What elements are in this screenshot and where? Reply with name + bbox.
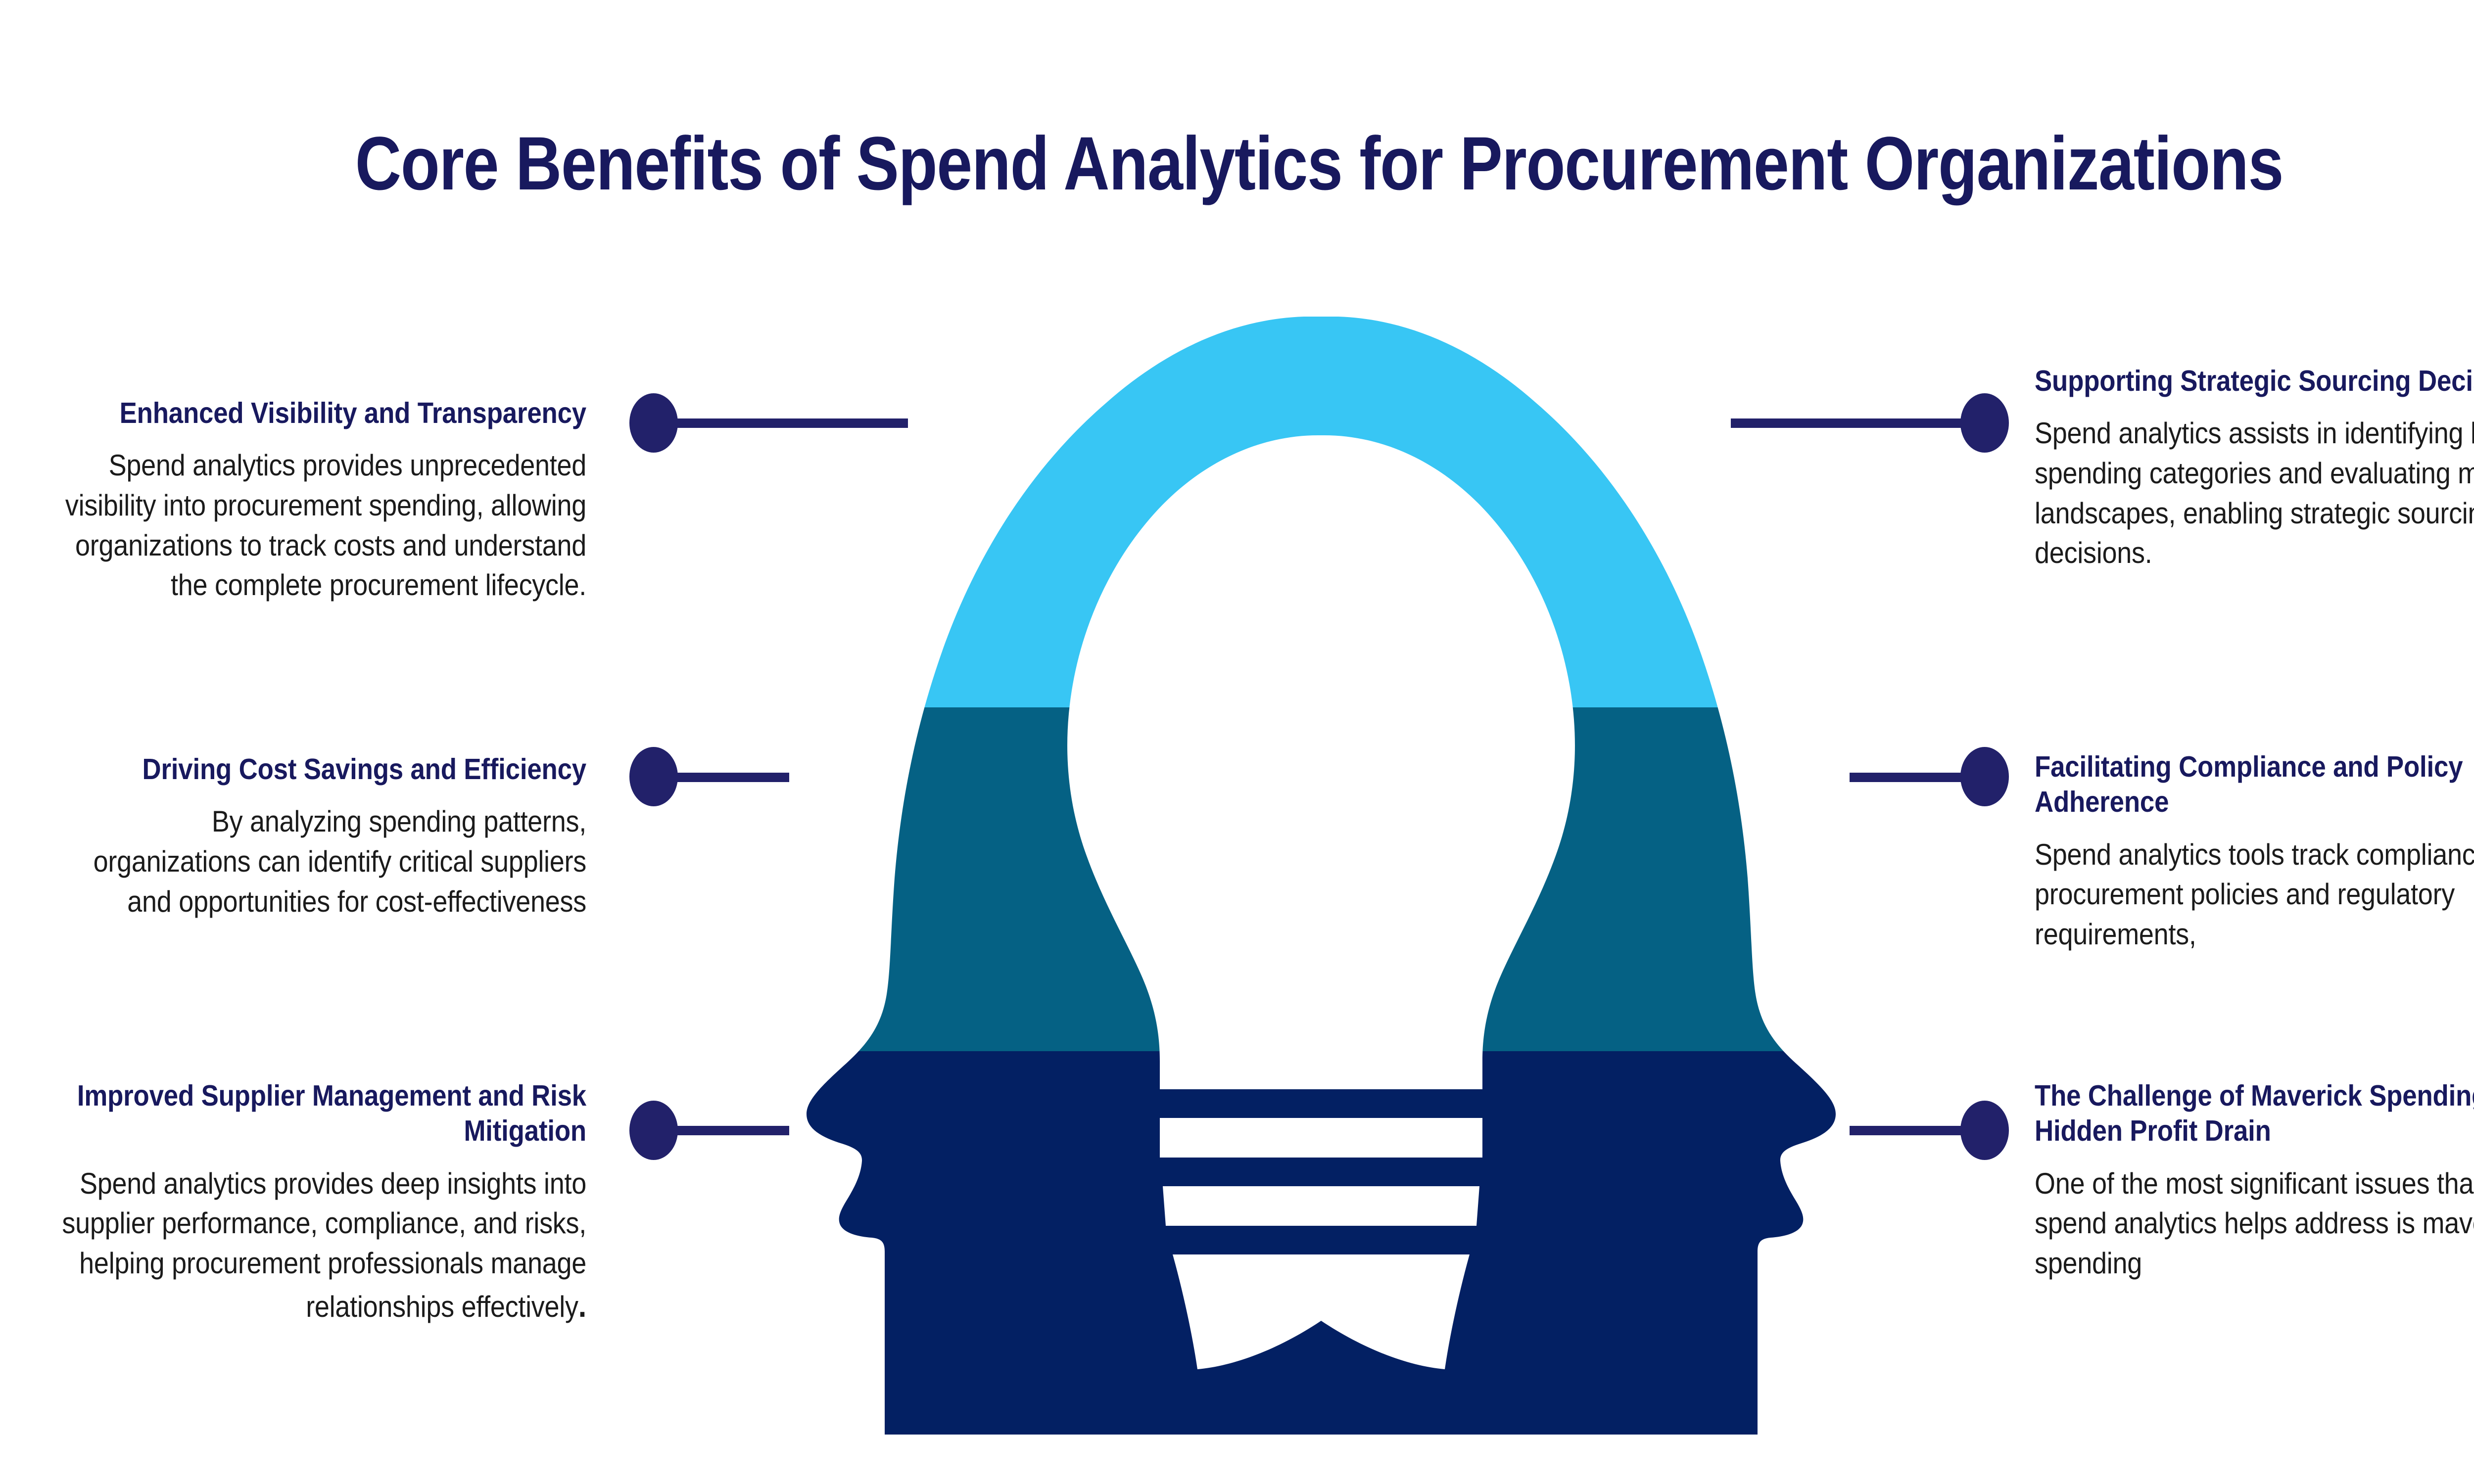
benefit-heading: Supporting Strategic Sourcing Decisions bbox=[2035, 364, 2474, 399]
benefit-block-improved-supplier-management: Improved Supplier Management and Risk Mi… bbox=[0, 1078, 616, 1328]
right-head-band-bottom bbox=[1321, 1051, 1984, 1435]
benefit-body-text: Spend analytics provides deep insights i… bbox=[62, 1167, 586, 1323]
left-head-band-top bbox=[658, 317, 1321, 707]
connector-line bbox=[670, 773, 789, 782]
benefit-body: Spend analytics provides unprecedented v… bbox=[59, 446, 587, 605]
benefit-heading: The Challenge of Maverick Spending: A Hi… bbox=[2035, 1078, 2474, 1149]
connector-dot bbox=[1960, 1101, 2009, 1160]
connector-line bbox=[1731, 418, 1968, 428]
two-head-profiles-with-lightbulb-graphic bbox=[658, 317, 1984, 1435]
left-head-silhouette bbox=[658, 317, 1321, 1435]
benefit-block-supporting-strategic-sourcing: Supporting Strategic Sourcing Decisions … bbox=[2035, 364, 2474, 573]
connector-dot bbox=[1960, 393, 2009, 453]
connector-line bbox=[670, 1126, 789, 1135]
benefit-body: One of the most significant issues that … bbox=[2035, 1164, 2474, 1284]
benefit-heading: Driving Cost Savings and Efficiency bbox=[61, 752, 586, 787]
left-head-band-bottom bbox=[658, 1051, 1321, 1435]
page-title: Core Benefits of Spend Analytics for Pro… bbox=[204, 121, 2434, 206]
benefit-heading: Improved Supplier Management and Risk Mi… bbox=[61, 1078, 586, 1149]
connector-line bbox=[1850, 773, 1968, 782]
connector-dot bbox=[629, 393, 678, 453]
connector-line bbox=[670, 418, 908, 428]
benefit-block-maverick-spending: The Challenge of Maverick Spending: A Hi… bbox=[2035, 1078, 2474, 1284]
right-head-silhouette bbox=[1321, 317, 1984, 1435]
benefit-body: Spend analytics tools track compliance w… bbox=[2035, 835, 2474, 955]
benefit-heading: Enhanced Visibility and Transparency bbox=[61, 396, 586, 431]
benefit-body: By analyzing spending patterns, organiza… bbox=[59, 802, 587, 922]
connector-dot bbox=[629, 1101, 678, 1160]
benefit-block-facilitating-compliance: Facilitating Compliance and Policy Adher… bbox=[2035, 749, 2474, 955]
benefit-block-enhanced-visibility: Enhanced Visibility and Transparency Spe… bbox=[0, 396, 616, 605]
benefit-body-period: . bbox=[578, 1287, 586, 1324]
right-head-band-middle bbox=[1321, 707, 1984, 1051]
connector-dot bbox=[629, 747, 678, 806]
right-head-band-top bbox=[1321, 317, 1984, 707]
benefit-body: Spend analytics assists in identifying k… bbox=[2035, 414, 2474, 573]
benefit-block-driving-cost-savings: Driving Cost Savings and Efficiency By a… bbox=[0, 752, 616, 922]
connector-dot bbox=[1960, 747, 2009, 806]
connector-line bbox=[1850, 1126, 1968, 1135]
left-head-band-middle bbox=[658, 707, 1321, 1051]
benefit-heading: Facilitating Compliance and Policy Adher… bbox=[2035, 749, 2474, 820]
benefit-body: Spend analytics provides deep insights i… bbox=[59, 1164, 587, 1328]
